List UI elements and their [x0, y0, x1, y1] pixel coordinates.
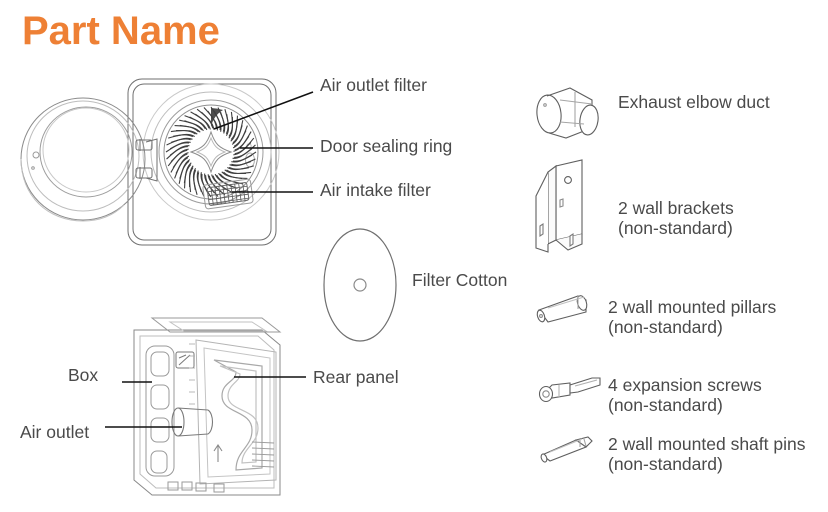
parts-diagram-page: Part Name — [0, 0, 828, 512]
label-wall-brackets-line1: 2 wall brackets — [618, 198, 734, 218]
label-filter-cotton: Filter Cotton — [412, 270, 507, 291]
label-wall-brackets-line2: (non-standard) — [618, 218, 734, 238]
wall-pillar-icon — [536, 295, 589, 323]
label-wall-mounted-pillars-line2: (non-standard) — [608, 317, 776, 337]
leader-lines-rear — [105, 377, 306, 427]
label-rear-panel: Rear panel — [313, 367, 399, 388]
expansion-screw-icon — [540, 378, 601, 402]
label-wall-mounted-shaft-pins: 2 wall mounted shaft pins (non-standard) — [608, 434, 805, 474]
air-intake-filter-mesh — [203, 179, 254, 209]
elbow-duct-icon — [535, 88, 600, 138]
front-view-body — [128, 79, 279, 245]
label-wall-mounted-shaft-pins-line2: (non-standard) — [608, 454, 805, 474]
label-expansion-screws-line2: (non-standard) — [608, 395, 762, 415]
label-wall-mounted-shaft-pins-line1: 2 wall mounted shaft pins — [608, 434, 805, 454]
label-expansion-screws: 4 expansion screws (non-standard) — [608, 375, 762, 415]
label-air-intake-filter: Air intake filter — [320, 180, 431, 201]
filter-cotton-shape — [324, 229, 396, 341]
label-expansion-screws-line1: 4 expansion screws — [608, 375, 762, 395]
label-wall-brackets: 2 wall brackets (non-standard) — [618, 198, 734, 238]
shaft-pin-icon — [540, 437, 592, 463]
label-exhaust-elbow-duct: Exhaust elbow duct — [618, 92, 770, 113]
label-wall-mounted-pillars: 2 wall mounted pillars (non-standard) — [608, 297, 776, 337]
rear-view-body — [134, 318, 280, 495]
label-air-outlet-filter: Air outlet filter — [320, 75, 427, 96]
door-lid — [21, 98, 157, 221]
label-box: Box — [68, 365, 98, 386]
label-door-sealing-ring: Door sealing ring — [320, 136, 452, 157]
leader-lines-front — [214, 92, 313, 192]
air-outlet-filter-fan — [165, 106, 257, 198]
label-air-outlet: Air outlet — [20, 422, 89, 443]
page-title: Part Name — [22, 6, 220, 56]
wall-bracket-icon — [536, 160, 582, 252]
leader-air-outlet-filter — [214, 92, 313, 129]
label-wall-mounted-pillars-line1: 2 wall mounted pillars — [608, 297, 776, 317]
